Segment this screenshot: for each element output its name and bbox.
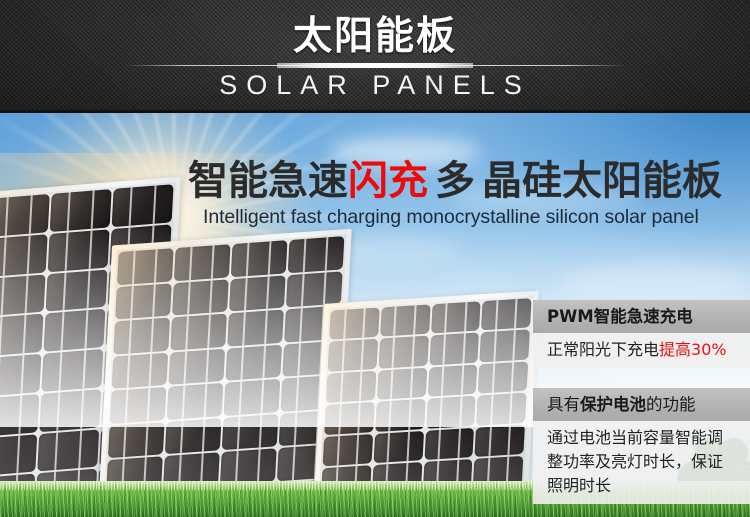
feature-2-title-prefix: 具有 [547, 395, 580, 414]
headline-highlight: 闪充 [348, 158, 428, 204]
header-chinese-title: 太阳能板 [0, 14, 750, 60]
feature-1-title: PWM智能急速充电 [533, 300, 750, 333]
hero-headline: 智能急速闪充多晶硅太阳能板 [188, 158, 722, 204]
feature-1-body-text: 正常阳光下充电 [547, 340, 659, 359]
headline-part2: 多 [435, 158, 475, 204]
header-banner: 太阳能板 SOLAR PANELS [0, 0, 750, 113]
headline-part3: 晶硅太阳能板 [482, 158, 722, 204]
feature-2-title-suffix: 的功能 [646, 395, 696, 414]
hero-subheadline: Intelligent fast charging monocrystallin… [203, 205, 699, 229]
header-english-title: SOLAR PANELS [0, 68, 750, 102]
feature-2-title: 具有保护电池的功能 [533, 388, 750, 421]
feature-2-title-bold: 保护电池 [580, 395, 646, 414]
feature-box-battery-protection: 具有保护电池的功能 通过电池当前容量智能调 整功率及亮灯时长，保证 照明时长 [533, 388, 750, 504]
feature-2-body: 通过电池当前容量智能调 整功率及亮灯时长，保证 照明时长 [533, 421, 750, 504]
page-root: 太阳能板 SOLAR PANELS [0, 0, 750, 517]
feature-1-body-highlight: 提高30% [659, 340, 727, 359]
headline-part1: 智能急速 [188, 158, 348, 204]
feature-1-body: 正常阳光下充电提高30% [533, 333, 750, 368]
feature-box-pwm: PWM智能急速充电 正常阳光下充电提高30% [533, 300, 750, 368]
